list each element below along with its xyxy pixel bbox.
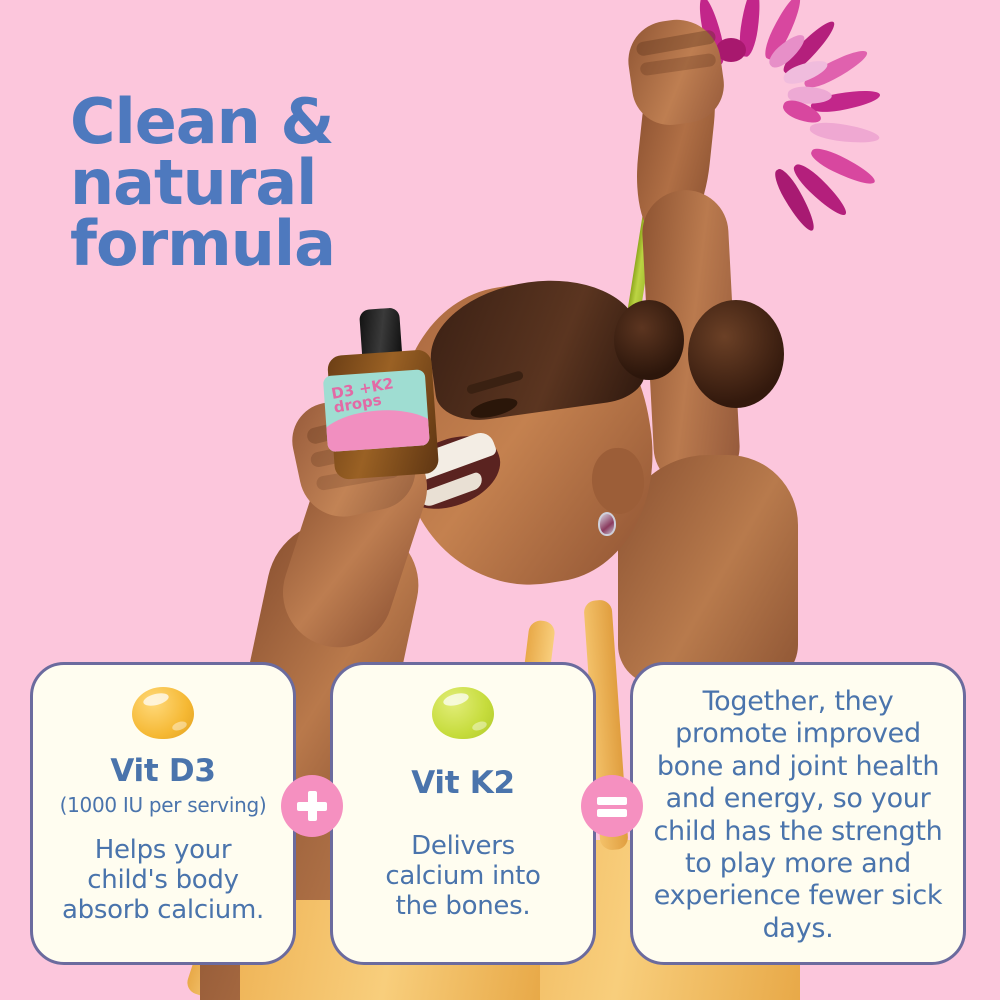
page-title: Clean & natural formula: [70, 92, 490, 274]
card-vit-k2: Vit K2 Delivers calcium into the bones.: [330, 662, 596, 965]
yellow-droplet-icon: [132, 687, 194, 739]
green-droplet-icon: [432, 687, 494, 739]
card-body: Helps your child's body absorb calcium.: [62, 835, 264, 925]
earring-icon: [598, 512, 616, 536]
equals-badge-icon: [581, 775, 643, 837]
plus-badge-icon: [281, 775, 343, 837]
card-title: Vit D3: [110, 753, 215, 789]
promo-banner: D3 +K2drops Clean & natural formula Vit …: [0, 0, 1000, 1000]
card-body: Delivers calcium into the bones.: [385, 831, 540, 921]
card-vit-d3: Vit D3 (1000 IU per serving) Helps your …: [30, 662, 296, 965]
card-title: Vit K2: [411, 765, 514, 801]
card-subtitle: (1000 IU per serving): [60, 793, 267, 817]
bottle-label: D3 +K2drops: [323, 369, 430, 452]
card-body: Together, they promote improved bone and…: [645, 686, 951, 945]
hair-bun-2: [614, 300, 684, 380]
hair-bun: [688, 300, 784, 408]
benefit-cards: Vit D3 (1000 IU per serving) Helps your …: [0, 662, 1000, 967]
card-result: Together, they promote improved bone and…: [630, 662, 966, 965]
